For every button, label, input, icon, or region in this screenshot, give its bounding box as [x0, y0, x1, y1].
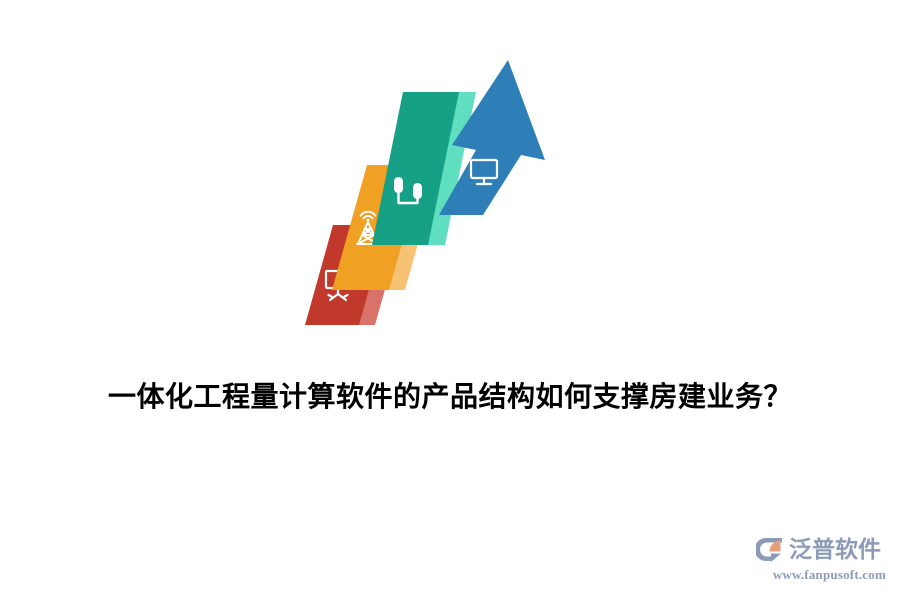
hero-graphic [295, 55, 565, 345]
brand-name: 泛普软件 [789, 534, 881, 564]
brand-watermark: 泛普软件 www.fanpusoft.com [756, 532, 886, 586]
page-canvas: 一体化工程量计算软件的产品结构如何支撑房建业务？ 泛普软件 www.fanpus… [0, 0, 900, 600]
brand-row: 泛普软件 [756, 532, 886, 566]
ascending-arrow-infographic [295, 55, 565, 345]
page-title: 一体化工程量计算软件的产品结构如何支撑房建业务？ [0, 378, 900, 418]
step-3-green [372, 92, 476, 245]
brand-url: www.fanpusoft.com [756, 567, 886, 583]
fanpu-logo-icon [756, 534, 786, 564]
